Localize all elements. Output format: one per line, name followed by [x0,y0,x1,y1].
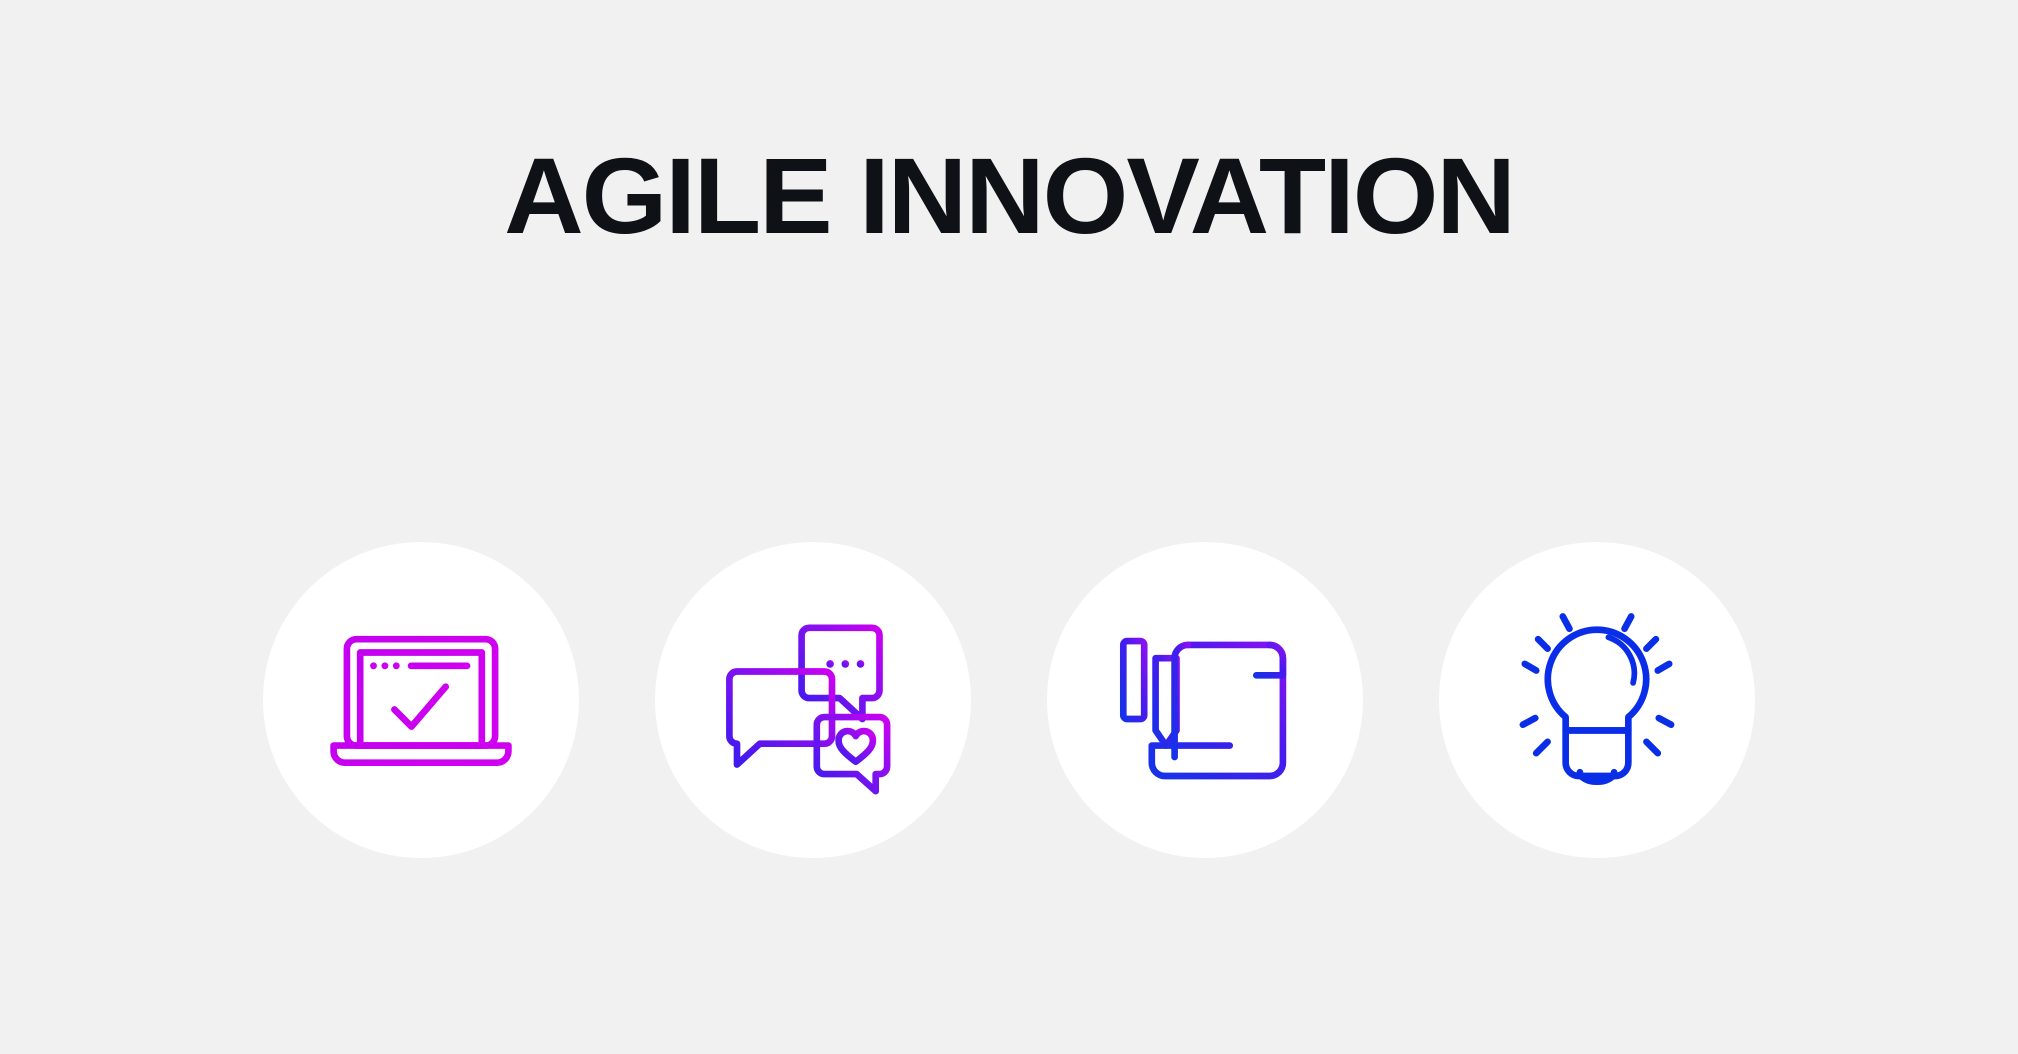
chat-bubbles-icon [718,605,908,795]
page-title: AGILE INNOVATION [504,142,1514,250]
icon-circle-laptop[interactable] [263,542,579,858]
laptop-checkmark-icon [326,605,516,795]
icon-row [0,542,2018,858]
typing-dots-icon [826,660,864,668]
address-bar-icon [408,662,471,669]
scroll-document-icon [1110,605,1300,795]
browser-dots-icon [370,662,400,669]
icon-circle-lightbulb[interactable] [1439,542,1755,858]
banner-root: AGILE INNOVATION [0,0,2018,1054]
page-title-container: AGILE INNOVATION [0,142,2018,250]
lightbulb-idea-icon [1502,605,1692,795]
icon-circle-document[interactable] [1047,542,1363,858]
ruler-icon [1123,641,1144,719]
icon-circle-chat[interactable] [655,542,971,858]
